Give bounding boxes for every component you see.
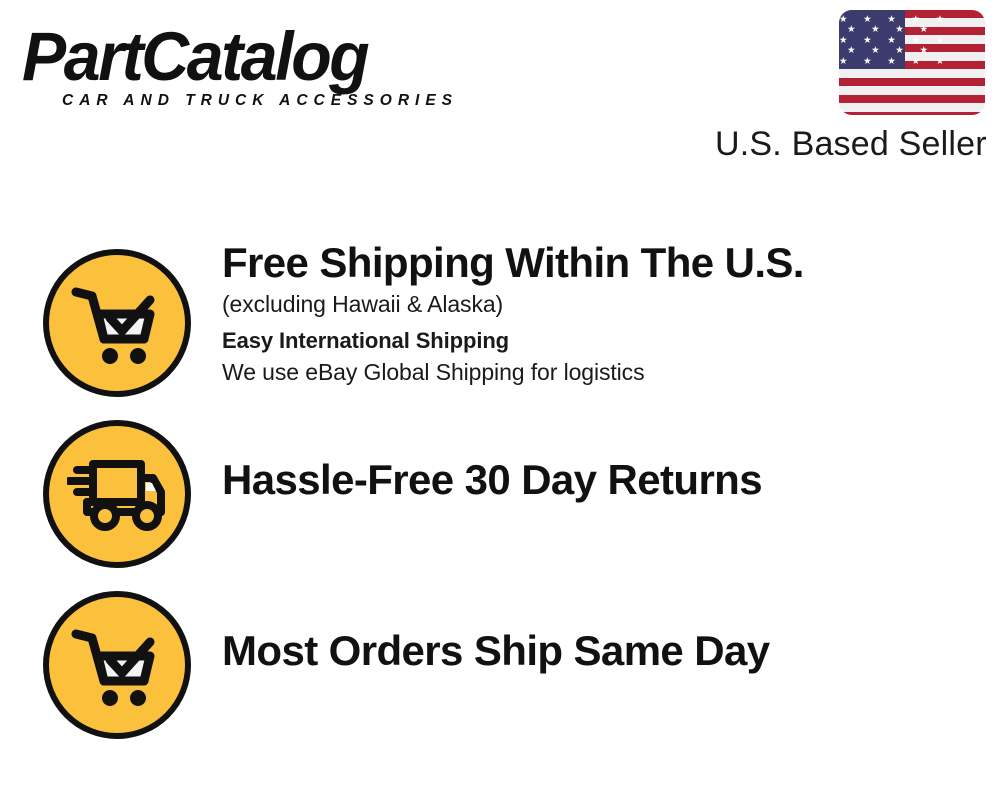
feature-text-block: Free Shipping Within The U.S. (excluding… xyxy=(222,238,980,388)
shopping-cart-check-icon xyxy=(43,591,191,739)
us-based-seller-label: U.S. Based Seller xyxy=(715,124,985,164)
feature-row: Most Orders Ship Same Day xyxy=(0,580,1000,751)
flag-star-row: ★ ★ ★ ★ xyxy=(847,45,935,56)
us-based-seller-badge: ★ ★ ★ ★ ★ ★ ★ ★ ★ ★ ★ ★ ★ ★ ★ ★ ★ ★ ★ ★ … xyxy=(715,10,985,164)
feature-row: Hassle-Free 30 Day Returns xyxy=(0,409,1000,580)
shopping-cart-check-icon xyxy=(43,249,191,397)
delivery-truck-icon xyxy=(43,420,191,568)
feature-subtitle-international: Easy International Shipping xyxy=(222,326,980,356)
feature-text-block: Hassle-Free 30 Day Returns xyxy=(222,455,980,505)
flag-star-row: ★ ★ ★ ★ ★ xyxy=(839,14,951,25)
flag-star-row: ★ ★ ★ ★ xyxy=(847,24,935,35)
partcatalog-logo: PartCatalog CAR AND TRUCK ACCESSORIES xyxy=(22,22,492,114)
feature-subtitle-exclusions: (excluding Hawaii & Alaska) xyxy=(222,288,980,320)
feature-title: Most Orders Ship Same Day xyxy=(222,626,980,676)
flag-star-row: ★ ★ ★ ★ ★ xyxy=(839,56,951,67)
logo-tagline: CAR AND TRUCK ACCESSORIES xyxy=(62,92,458,110)
feature-subtitle-logistics: We use eBay Global Shipping for logistic… xyxy=(222,356,980,388)
seller-info-banner: PartCatalog CAR AND TRUCK ACCESSORIES xyxy=(0,0,1000,800)
feature-title: Hassle-Free 30 Day Returns xyxy=(222,455,980,505)
feature-text-block: Most Orders Ship Same Day xyxy=(222,626,980,676)
feature-row: Free Shipping Within The U.S. (excluding… xyxy=(0,238,1000,409)
flag-stars: ★ ★ ★ ★ ★ ★ ★ ★ ★ ★ ★ ★ ★ ★ ★ ★ ★ ★ ★ ★ … xyxy=(839,10,905,69)
logo-wordmark: PartCatalog xyxy=(22,22,473,92)
us-flag-icon: ★ ★ ★ ★ ★ ★ ★ ★ ★ ★ ★ ★ ★ ★ ★ ★ ★ ★ ★ ★ … xyxy=(839,10,985,115)
banner-header: PartCatalog CAR AND TRUCK ACCESSORIES xyxy=(0,0,1000,170)
flag-star-row: ★ ★ ★ ★ ★ xyxy=(839,35,951,46)
feature-list: Free Shipping Within The U.S. (excluding… xyxy=(0,238,1000,751)
feature-title: Free Shipping Within The U.S. xyxy=(222,238,980,288)
